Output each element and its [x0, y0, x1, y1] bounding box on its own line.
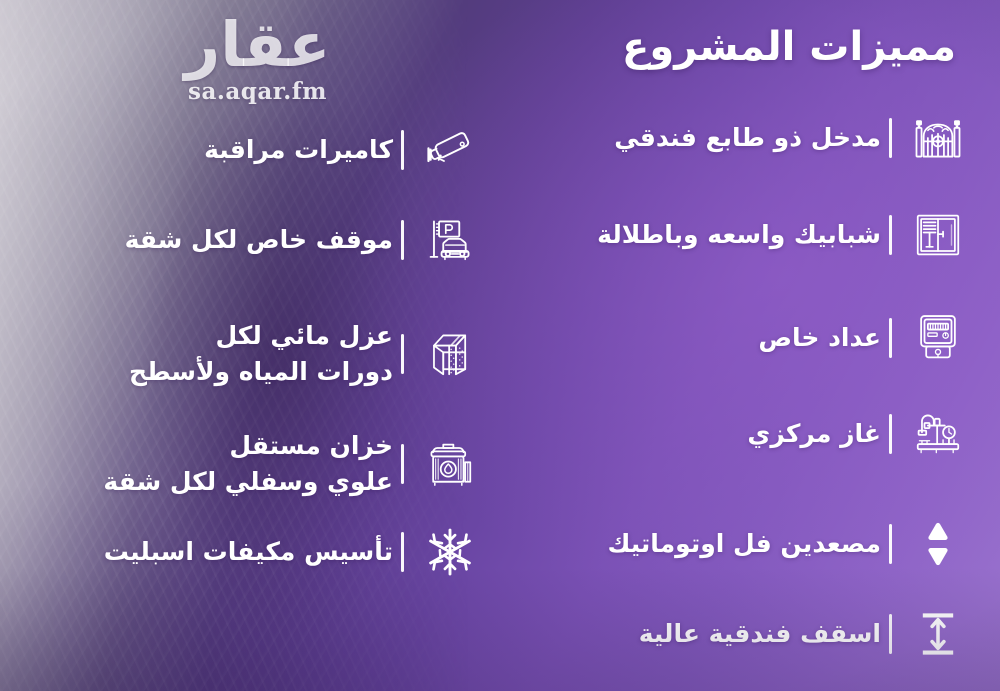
insulation-layers-icon — [418, 322, 482, 386]
feature-label: كاميرات مراقبة — [204, 133, 393, 167]
feature-label: خزان مستقل علوي وسفلي لكل شقة — [103, 428, 393, 500]
ceiling-height-icon — [906, 602, 970, 666]
divider-rule — [401, 220, 404, 260]
feature-water-insulation: عزل مائي لكل دورات المياه ولأسطح — [129, 318, 482, 390]
feature-independent-tank: خزان مستقل علوي وسفلي لكل شقة — [103, 428, 482, 500]
feature-label: اسقف فندقية عالية — [639, 617, 881, 651]
electric-meter-icon — [906, 306, 970, 370]
feature-two-elevators: مصعدين فل اوتوماتيك — [607, 512, 970, 576]
page-title: مميزات المشروع — [622, 16, 956, 78]
feature-split-ac-prep: تأسيس مكيفات اسبليت — [104, 520, 482, 584]
divider-rule — [889, 414, 892, 454]
divider-rule — [889, 215, 892, 255]
feature-label: شبابيك واسعه وباطلالة — [597, 218, 881, 252]
watermark-arabic-logo: عقار — [150, 12, 365, 78]
watermark-domain: sa.aqar.fm — [150, 79, 365, 105]
feature-private-meter: عداد خاص — [758, 306, 970, 370]
window-blinds-icon — [906, 203, 970, 267]
feature-label: عزل مائي لكل دورات المياه ولأسطح — [129, 318, 393, 390]
aqar-watermark: عقار sa.aqar.fm — [150, 12, 365, 112]
feature-wide-windows: شبابيك واسعه وباطلالة — [597, 203, 970, 267]
feature-label: مصعدين فل اوتوماتيك — [607, 527, 881, 561]
feature-high-ceilings: اسقف فندقية عالية — [639, 602, 970, 666]
ornate-gate-icon — [906, 106, 970, 170]
feature-label: تأسيس مكيفات اسبليت — [104, 535, 393, 569]
project-features-poster: عقار sa.aqar.fm مميزات المشروع — [0, 0, 1000, 691]
divider-rule — [889, 524, 892, 564]
feature-surveillance-cameras: كاميرات مراقبة — [204, 118, 482, 182]
divider-rule — [401, 444, 404, 484]
feature-hotel-style-entrance: مدخل ذو طابع فندقي — [614, 106, 970, 170]
divider-rule — [401, 334, 404, 374]
divider-rule — [889, 318, 892, 358]
feature-label: مدخل ذو طابع فندقي — [614, 121, 881, 155]
feature-private-parking: موقف خاص لكل شقة — [125, 208, 482, 272]
elevator-arrows-icon — [906, 512, 970, 576]
snowflake-icon — [418, 520, 482, 584]
divider-rule — [889, 614, 892, 654]
divider-rule — [401, 130, 404, 170]
water-tank-icon — [418, 432, 482, 496]
feature-label: غاز مركزي — [747, 417, 881, 451]
feature-label: موقف خاص لكل شقة — [125, 223, 393, 257]
divider-rule — [401, 532, 404, 572]
feature-central-gas: غاز مركزي — [747, 402, 970, 466]
feature-label: عداد خاص — [758, 321, 881, 355]
cctv-camera-icon — [418, 118, 482, 182]
gas-manifold-icon — [906, 402, 970, 466]
divider-rule — [889, 118, 892, 158]
parking-car-icon — [418, 208, 482, 272]
